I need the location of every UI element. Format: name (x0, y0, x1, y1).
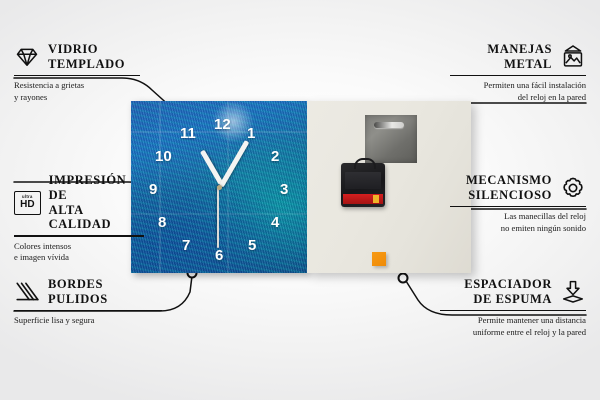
ultra-hd-icon-main-label: HD (20, 200, 34, 210)
clock-mechanism-box (341, 163, 385, 207)
clock-numeral-11: 11 (180, 126, 196, 141)
clock-numeral-10: 10 (155, 149, 172, 164)
ultra-hd-icon: ultra HD (14, 191, 41, 215)
foam-spacer (372, 252, 386, 266)
clock-numeral-8: 8 (158, 215, 166, 230)
polished-edges-icon (14, 279, 40, 305)
callout-foam-spacer: ESPACIADOR DE ESPUMA Permite mantener un… (440, 277, 586, 338)
mechanism-face (345, 172, 381, 189)
callout-rule (14, 235, 144, 237)
callout-title-line1: MECANISMO (466, 173, 552, 188)
clock-numeral-5: 5 (248, 238, 256, 253)
clock-numeral-12: 12 (214, 117, 231, 132)
callout-title-line1: VIDRIO (48, 42, 125, 57)
clock-numeral-3: 3 (280, 182, 288, 197)
callout-rule (440, 310, 586, 312)
callout-metal-handles: MANEJAS METAL Permiten una fácil instala… (450, 42, 586, 103)
clock-face: 12 1 2 3 4 5 6 7 8 9 10 11 (131, 101, 307, 273)
callout-desc-line2: e imagen vívida (14, 252, 144, 264)
callout-title-line1: MANEJAS (487, 42, 552, 57)
mechanism-hanging-loop (354, 158, 376, 169)
callout-desc-line2: no emiten ningún sonido (450, 223, 586, 235)
callout-hd-print: ultra HD IMPRESIÓN DE ALTA CALIDAD Color… (14, 173, 144, 264)
mechanism-label-band (343, 194, 383, 204)
callout-rule (450, 75, 586, 77)
callout-rule (450, 206, 586, 208)
metal-hanger-plate (365, 115, 417, 163)
product-wall-clock: 12 1 2 3 4 5 6 7 8 9 10 11 (131, 101, 471, 273)
clock-back-panel (307, 101, 471, 273)
clock-numeral-7: 7 (182, 238, 190, 253)
callout-title-line1: BORDES (48, 277, 108, 292)
infographic-stage: 12 1 2 3 4 5 6 7 8 9 10 11 (0, 0, 600, 400)
callout-desc-line2: y rayones (14, 92, 140, 104)
picture-hanging-icon (560, 44, 586, 70)
callout-silent-mechanism: MECANISMO SILENCIOSO Las manecillas del … (450, 173, 586, 234)
callout-desc-line1: Resistencia a grietas (14, 80, 140, 92)
clock-numeral-6: 6 (215, 248, 223, 263)
callout-title-line2: DE ESPUMA (464, 292, 552, 307)
clock-second-hand (218, 186, 220, 248)
callout-desc-line2: uniforme entre el reloj y la pared (440, 327, 586, 339)
clock-numeral-9: 9 (149, 182, 157, 197)
clock-numeral-1: 1 (247, 126, 255, 141)
callout-title-line2: ALTA CALIDAD (49, 203, 144, 233)
callout-desc-line2: del reloj en la pared (450, 92, 586, 104)
diamond-icon (14, 44, 40, 70)
clock-center-pin (217, 185, 222, 190)
callout-title-line2: SILENCIOSO (466, 188, 552, 203)
callout-rule (14, 310, 162, 312)
callout-polished-edges: BORDES PULIDOS Superficie lisa y segura (14, 277, 162, 327)
marker-foam-spacer (399, 274, 408, 283)
clock-numeral-4: 4 (271, 215, 279, 230)
callout-title-line1: IMPRESIÓN DE (49, 173, 144, 203)
callout-desc-line1: Las manecillas del reloj (450, 211, 586, 223)
clock-numeral-2: 2 (271, 149, 279, 164)
callout-tempered-glass: VIDRIO TEMPLADO Resistencia a grietas y … (14, 42, 140, 103)
callout-desc-line1: Permite mantener una distancia (440, 315, 586, 327)
mechanism-label-accent (373, 195, 379, 203)
callout-title-line2: TEMPLADO (48, 57, 125, 72)
callout-rule (14, 75, 140, 77)
hanger-slot (374, 122, 404, 128)
callout-desc-line1: Colores intensos (14, 241, 144, 253)
down-arrow-tray-icon (560, 279, 586, 305)
gear-icon (560, 175, 586, 201)
callout-title-line2: PULIDOS (48, 292, 108, 307)
callout-desc-line1: Superficie lisa y segura (14, 315, 162, 327)
callout-desc-line1: Permiten una fácil instalación (450, 80, 586, 92)
callout-title-line1: ESPACIADOR (464, 277, 552, 292)
callout-title-line2: METAL (487, 57, 552, 72)
